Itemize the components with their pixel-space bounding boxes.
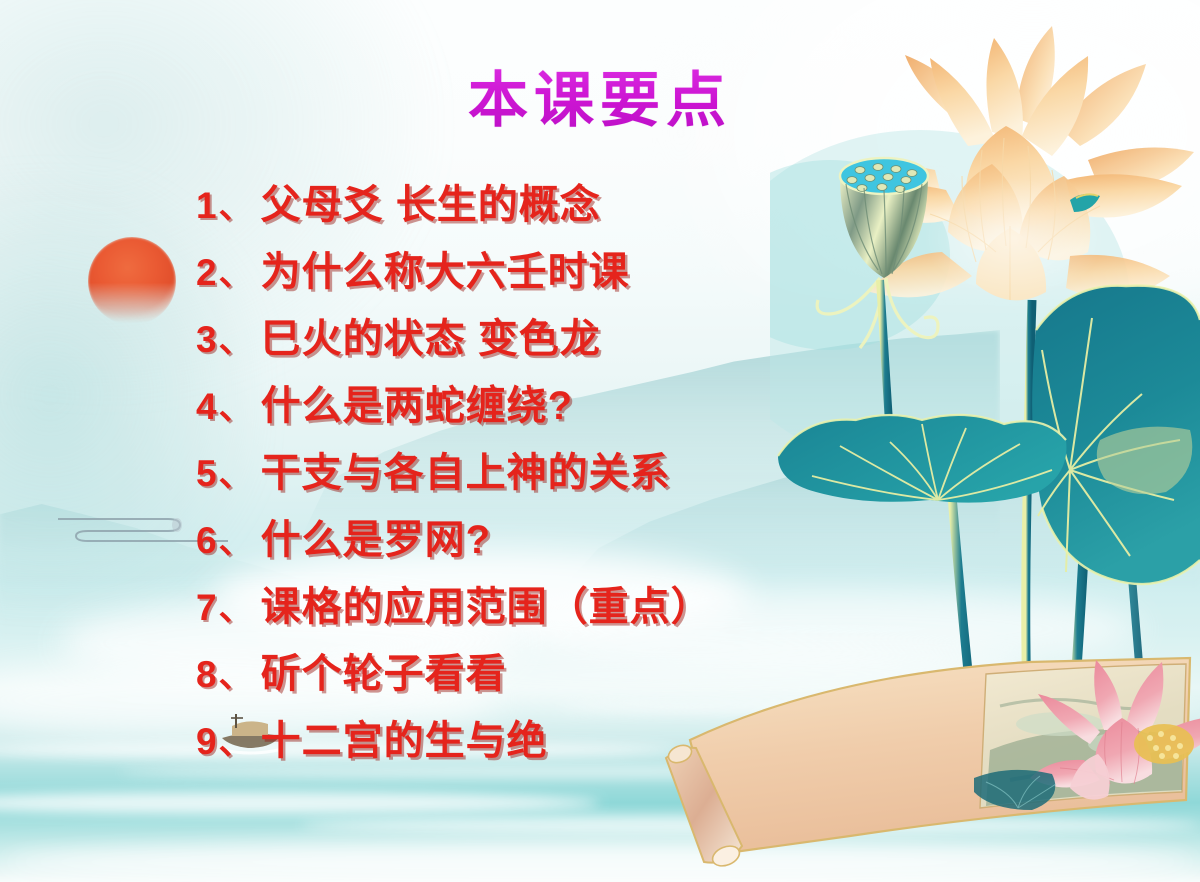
list-item-text: 巳火的状态 变色龙 (261, 306, 601, 364)
list-item-text: 斫个轮子看看 (261, 641, 507, 699)
list-item-separator: 、 (219, 313, 253, 362)
list-item-number: 4 (196, 386, 217, 428)
slide-canvas: 本课要点 1 、 父母爻 长生的概念 2 、 为什么称大六壬时课 3 、 巳火的… (0, 0, 1200, 882)
list-item-separator: 、 (219, 179, 253, 228)
mist-top-right (660, 0, 1200, 300)
list-item-number: 9 (196, 721, 217, 763)
list-item-text: 干支与各自上神的关系 (261, 440, 671, 498)
list-item-separator: 、 (219, 581, 253, 630)
list-item: 7 、 课格的应用范围（重点） (196, 574, 712, 641)
list-item-text: 课格的应用范围（重点） (261, 574, 712, 632)
list-item-number: 5 (196, 453, 217, 495)
list-item-number: 2 (196, 252, 217, 294)
list-item-text: 父母爻 长生的概念 (261, 172, 601, 230)
list-item: 3 、 巳火的状态 变色龙 (196, 306, 712, 373)
list-item-text: 什么是罗网? (261, 507, 491, 565)
list-item: 1 、 父母爻 长生的概念 (196, 172, 712, 239)
list-item: 4 、 什么是两蛇缠绕? (196, 373, 712, 440)
list-item: 2 、 为什么称大六壬时课 (196, 239, 712, 306)
list-item-text: 为什么称大六壬时课 (261, 239, 630, 297)
list-item: 9 、 十二宫的生与绝 (196, 708, 712, 775)
list-item-number: 8 (196, 654, 217, 696)
list-item-number: 6 (196, 520, 217, 562)
sun-icon (88, 237, 176, 325)
scroll-illustration (630, 630, 1200, 882)
page-title: 本课要点 (0, 52, 1200, 139)
list-item-text: 什么是两蛇缠绕? (261, 373, 573, 431)
list-item-number: 3 (196, 319, 217, 361)
list-item: 6 、 什么是罗网? (196, 507, 712, 574)
agenda-list: 1 、 父母爻 长生的概念 2 、 为什么称大六壬时课 3 、 巳火的状态 变色… (196, 172, 712, 775)
list-item-separator: 、 (219, 715, 253, 764)
list-item: 8 、 斫个轮子看看 (196, 641, 712, 708)
list-item: 5 、 干支与各自上神的关系 (196, 440, 712, 507)
list-item-separator: 、 (219, 246, 253, 295)
list-item-separator: 、 (219, 648, 253, 697)
list-item-separator: 、 (219, 447, 253, 496)
list-item-number: 1 (196, 185, 217, 227)
list-item-separator: 、 (219, 380, 253, 429)
list-item-number: 7 (196, 587, 217, 629)
list-item-text: 十二宫的生与绝 (261, 708, 548, 766)
list-item-separator: 、 (219, 514, 253, 563)
